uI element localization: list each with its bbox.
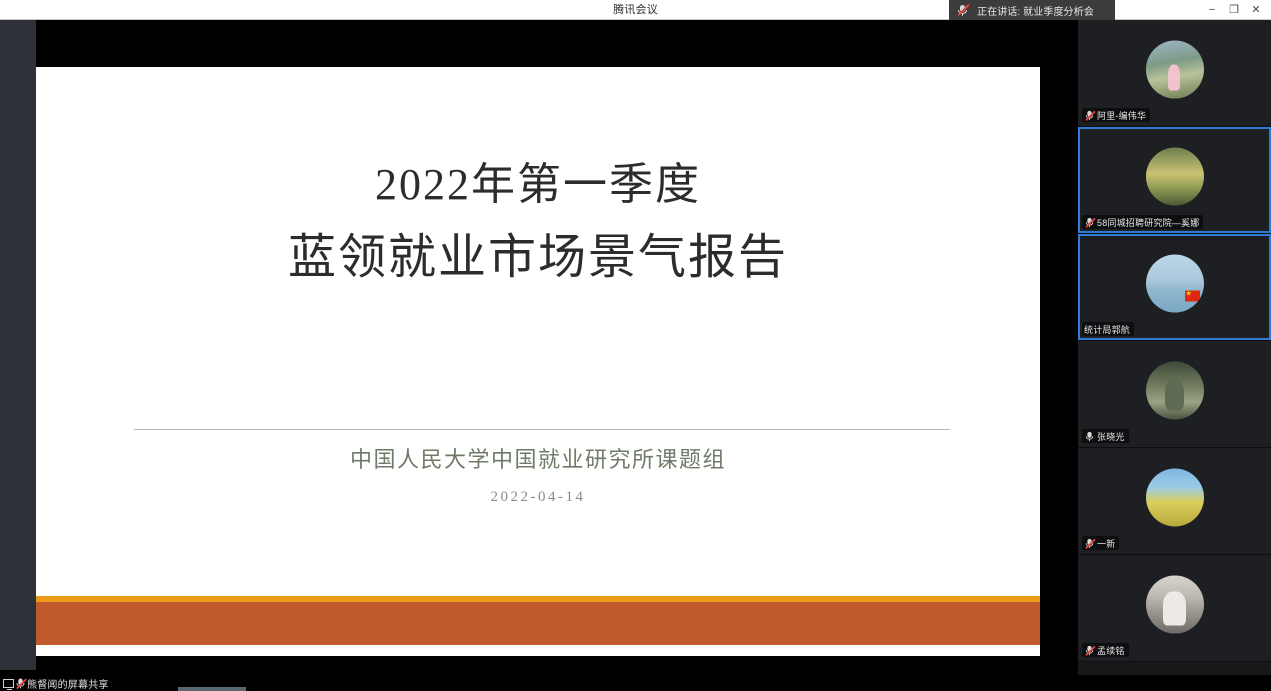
participant-name: 统计局郭航 [1084, 323, 1130, 336]
tencent-meeting-window: 腾讯会议 正在讲话: 就业季度分析会 − ❐ ✕ 2022年第一季度 蓝领就业市… [0, 0, 1271, 691]
active-speaker-chip[interactable]: 正在讲话: 就业季度分析会 [949, 0, 1115, 20]
participant-name: 孟续铭 [1097, 644, 1125, 657]
microphone-muted-icon [16, 677, 26, 689]
slide-date: 2022-04-14 [36, 489, 1040, 506]
avatar [1146, 469, 1204, 527]
participant-name: 张晓光 [1097, 430, 1125, 443]
shared-screen-left-border [0, 20, 36, 670]
microphone-muted-icon [1085, 537, 1094, 548]
avatar [1146, 148, 1204, 206]
slide-author: 中国人民大学中国就业研究所课题组 [36, 442, 1040, 474]
participant-namebar: 张晓光 [1082, 429, 1129, 443]
participant-tile[interactable]: 统计局郭航 [1078, 234, 1271, 341]
participant-tile[interactable]: 一新 [1078, 448, 1271, 555]
participant-namebar: 阿里-编伟华 [1082, 108, 1150, 122]
participant-name: 阿里-编伟华 [1097, 109, 1146, 122]
maximize-restore-button[interactable]: ❐ [1223, 0, 1245, 20]
flag-badge-icon [1185, 291, 1200, 302]
avatar [1146, 41, 1204, 99]
screen-share-icon [3, 679, 14, 688]
participant-namebar: 统计局郭航 [1082, 322, 1134, 336]
avatar [1146, 255, 1204, 313]
window-controls: − ❐ ✕ [1201, 0, 1267, 20]
participant-namebar: 58同城招聘研究院—奚娜 [1082, 215, 1203, 229]
participant-video-strip[interactable]: 阿里-编伟华 58同城招聘研究院—奚娜 统计局郭航 [1078, 20, 1271, 675]
avatar [1146, 576, 1204, 634]
microphone-icon [1085, 430, 1094, 441]
slide-divider-rule [134, 429, 950, 430]
participant-tile[interactable]: 孟续铭 [1078, 555, 1271, 662]
participant-tile[interactable]: 58同城招聘研究院—奚娜 [1078, 127, 1271, 234]
slide-title-block: 2022年第一季度 蓝领就业市场景气报告 [36, 157, 1040, 288]
window-titlebar: 腾讯会议 正在讲话: 就业季度分析会 − ❐ ✕ [0, 0, 1271, 20]
slide-title-line-1: 2022年第一季度 [36, 157, 1040, 212]
close-button[interactable]: ✕ [1245, 0, 1267, 20]
microphone-muted-icon [1085, 644, 1094, 655]
slide-accent-bar-thick [36, 602, 1040, 645]
microphone-muted-icon [957, 4, 969, 17]
participant-namebar: 一新 [1082, 536, 1119, 550]
active-speaker-label: 正在讲话: 就业季度分析会 [977, 3, 1094, 18]
participant-tile[interactable]: 张晓光 [1078, 341, 1271, 448]
microphone-muted-icon [1085, 109, 1094, 120]
participant-namebar: 孟续铭 [1082, 643, 1129, 657]
screen-share-label: 熊督闻的屏幕共享 [27, 676, 109, 691]
participant-name: 58同城招聘研究院—奚娜 [1097, 216, 1199, 229]
minimize-button[interactable]: − [1201, 0, 1223, 20]
taskbar-sliver [178, 687, 246, 691]
microphone-muted-icon [1085, 216, 1094, 227]
slide-title-line-2: 蓝领就业市场景气报告 [36, 228, 1040, 288]
participant-tile[interactable]: 阿里-编伟华 [1078, 20, 1271, 127]
avatar [1146, 362, 1204, 420]
presentation-slide[interactable]: 2022年第一季度 蓝领就业市场景气报告 中国人民大学中国就业研究所课题组 20… [36, 67, 1040, 656]
participant-name: 一新 [1097, 537, 1115, 550]
